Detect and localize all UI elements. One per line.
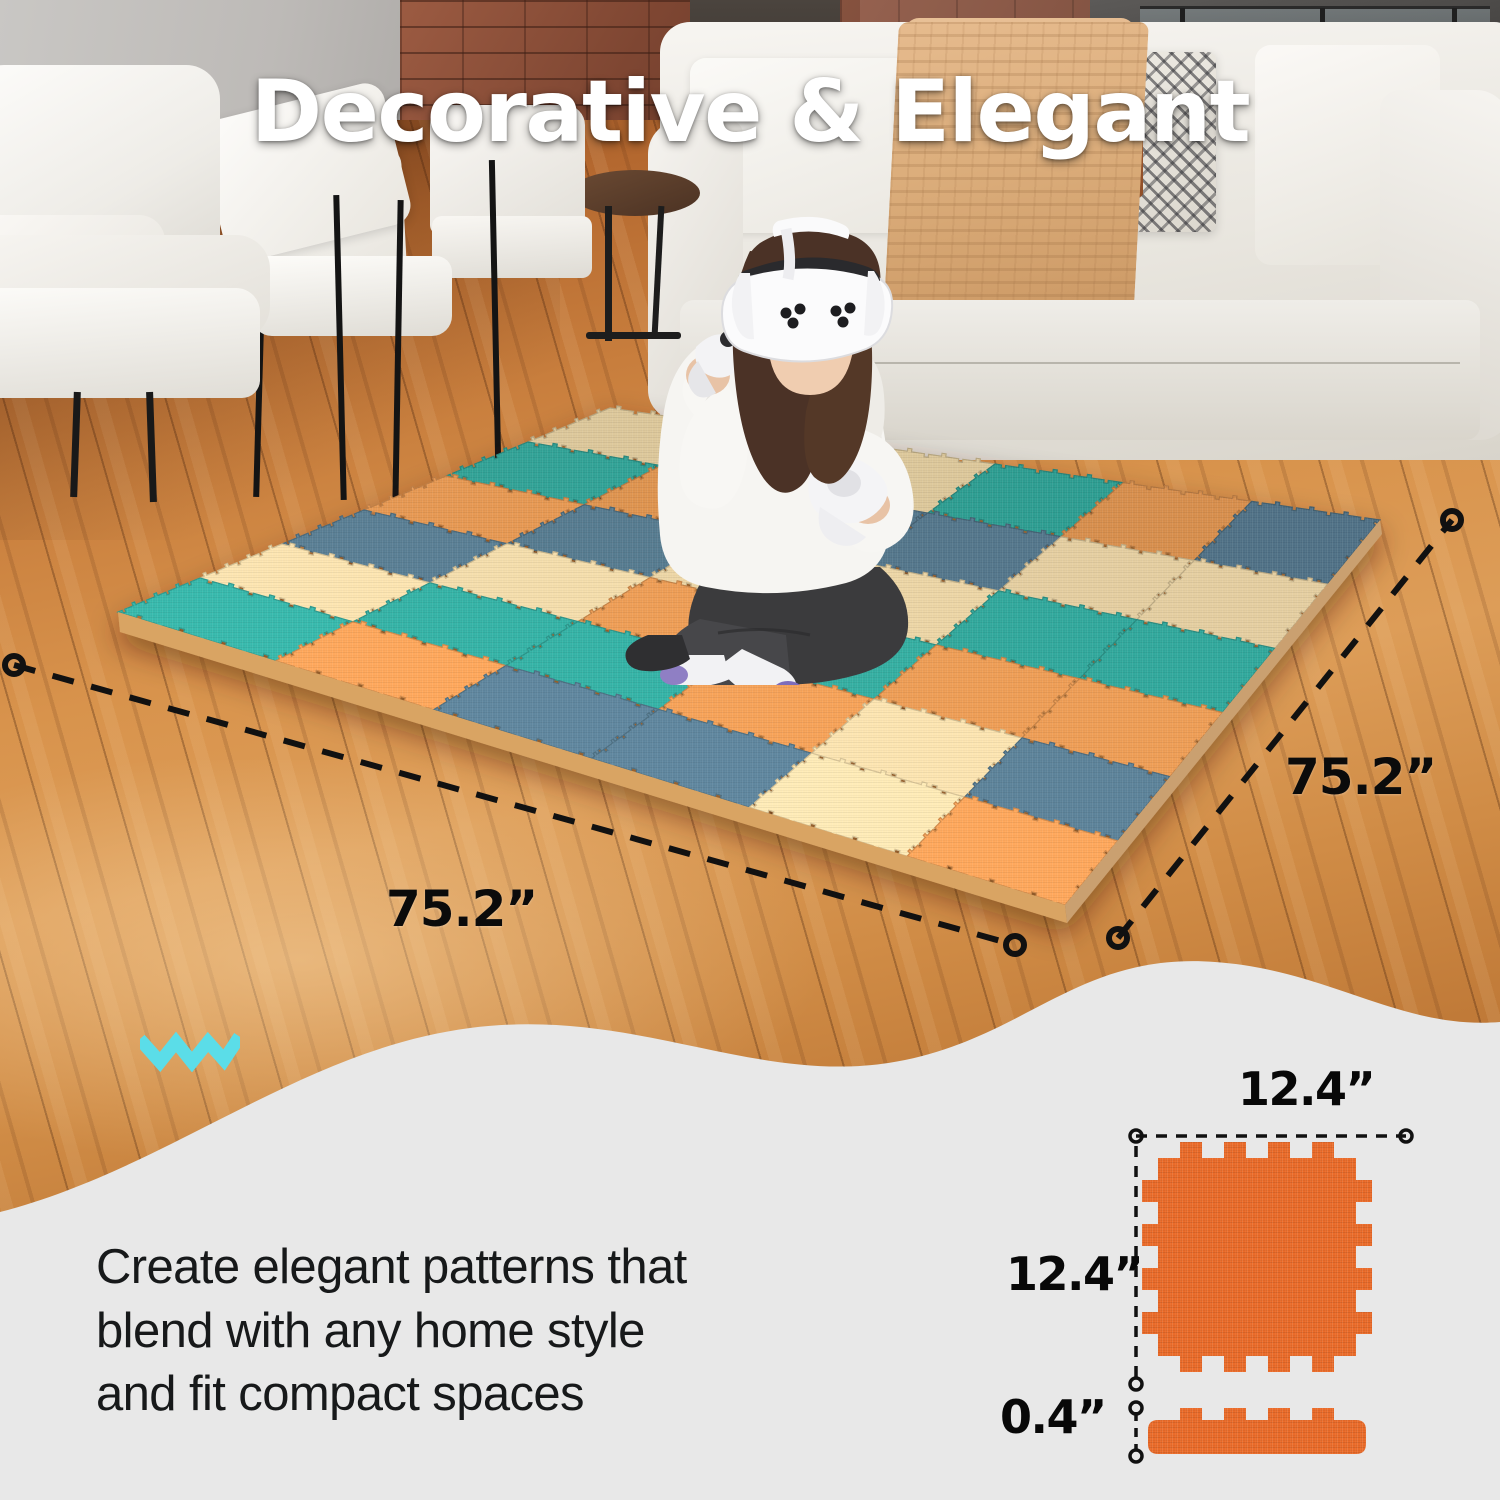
zigzag-accent-icon xyxy=(140,1028,240,1072)
product-infographic: 75.2” 75.2” Create elegant patterns that… xyxy=(0,0,1500,1500)
body-copy-line-3: and fit compact spaces xyxy=(96,1363,926,1427)
foam-tile-edge-profile xyxy=(1148,1408,1366,1454)
body-copy-line-2: blend with any home style xyxy=(96,1300,926,1364)
tile-spec-diagram xyxy=(1120,1120,1470,1490)
lifestyle-photo: 75.2” 75.2” xyxy=(0,0,1500,1240)
tile-height-label: 12.4” xyxy=(1006,1247,1142,1301)
dimension-label-depth: 75.2” xyxy=(1285,748,1436,806)
page-title: Decorative & Elegant xyxy=(0,62,1500,162)
tile-thickness-label: 0.4” xyxy=(1000,1390,1106,1444)
dimension-line-depth xyxy=(1118,520,1452,938)
body-copy: Create elegant patterns that blend with … xyxy=(96,1236,926,1427)
dimension-label-width: 75.2” xyxy=(386,880,537,938)
foam-tile-top-view xyxy=(1142,1142,1372,1372)
body-copy-line-1: Create elegant patterns that xyxy=(96,1236,926,1300)
tile-width-label: 12.4” xyxy=(1238,1062,1374,1116)
